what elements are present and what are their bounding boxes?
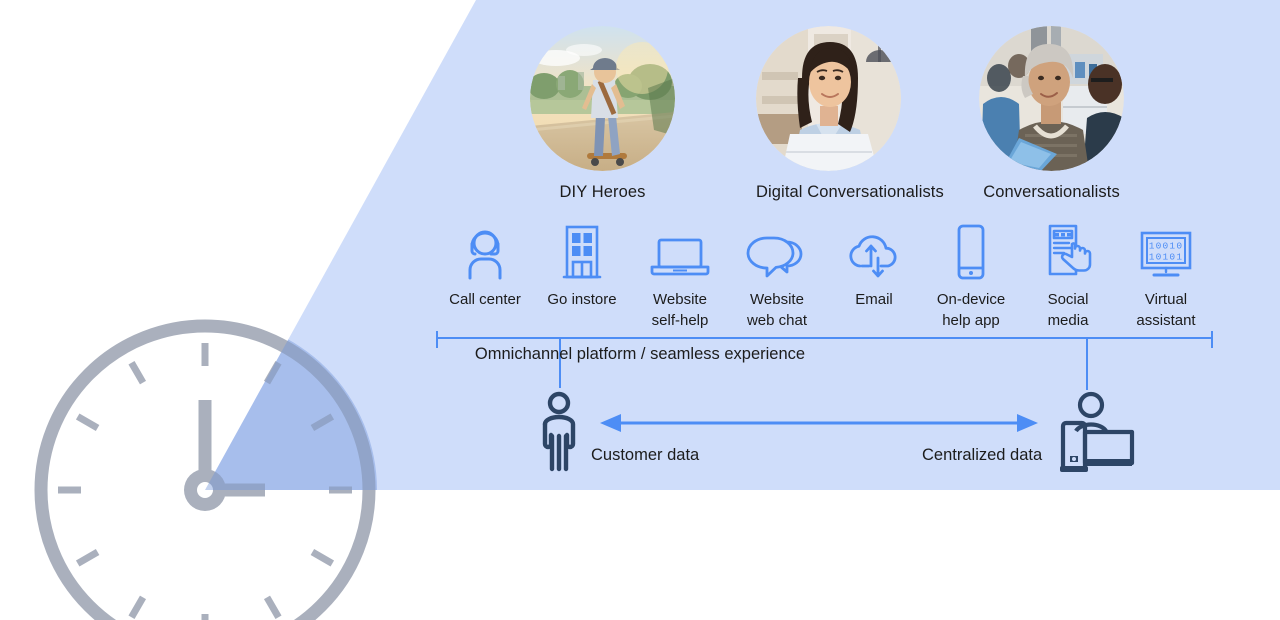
channel-label-line1: On-device [937,291,1005,308]
channel-label: Social media [1013,289,1123,332]
persona-digital-conversationalists: Digital Conversationalists [756,26,901,202]
channel-label-line2: self-help [652,312,709,329]
channel-label: On-device help app [916,289,1026,332]
channel-label-line2: media [1048,312,1089,329]
store-building-icon [527,224,637,280]
channel-label: Website web chat [722,289,832,332]
diagram-canvas: DIY Heroes [0,0,1280,620]
persona-diy-heroes: DIY Heroes [530,26,675,202]
channel-label-line1: Virtual [1145,291,1187,308]
channel-on-device-help-app[interactable]: On-device help app [916,224,1026,332]
chat-bubbles-icon [722,224,832,280]
centralized-data-label: Centralized data [922,446,1042,465]
call-center-icon [430,224,540,280]
channel-website-self-help[interactable]: Website self-help [625,224,735,332]
channel-social-media[interactable]: Social media [1013,224,1123,332]
photo-conversationalists [979,26,1124,171]
persona-conversationalists: Conversationalists [979,26,1124,202]
channel-label-line2: help app [942,312,1000,329]
channel-label-line1: Website [653,291,707,308]
omnichannel-caption: Omnichannel platform / seamless experien… [0,345,1280,364]
channel-call-center[interactable]: Call center [430,224,540,310]
channel-go-instore[interactable]: Go instore [527,224,637,310]
channel-label-line1: Call center [449,291,521,308]
channel-label-line1: Social [1048,291,1089,308]
svg-text:10101: 10101 [1149,252,1184,263]
cloud-sync-icon [819,224,929,280]
channel-label-line1: Go instore [547,291,616,308]
laptop-icon [625,224,735,280]
channel-email[interactable]: Email [819,224,929,310]
customer-data-label: Customer data [591,446,699,465]
persona-label: Digital Conversationalists [756,183,901,202]
channel-label: Virtual assistant [1111,289,1221,332]
channel-label-line1: Website [750,291,804,308]
social-tap-icon [1013,224,1123,280]
photo-digital-conversationalists [756,26,901,171]
channel-label: Website self-help [625,289,735,332]
binary-monitor-icon: 10010 10101 [1111,224,1221,280]
channel-website-web-chat[interactable]: Website web chat [722,224,832,332]
channel-virtual-assistant[interactable]: 10010 10101 Virtual assistant [1111,224,1221,332]
smartphone-icon [916,224,1026,280]
persona-label: Conversationalists [979,183,1124,202]
persona-label: DIY Heroes [530,183,675,202]
channel-label-line2: assistant [1136,312,1195,329]
channel-label-line2: web chat [747,312,807,329]
channel-label: Email [819,289,929,310]
photo-diy-heroes [530,26,675,171]
channel-label: Go instore [527,289,637,310]
channel-label-line1: Email [855,291,893,308]
svg-text:10010: 10010 [1149,241,1184,252]
channel-label: Call center [430,289,540,310]
